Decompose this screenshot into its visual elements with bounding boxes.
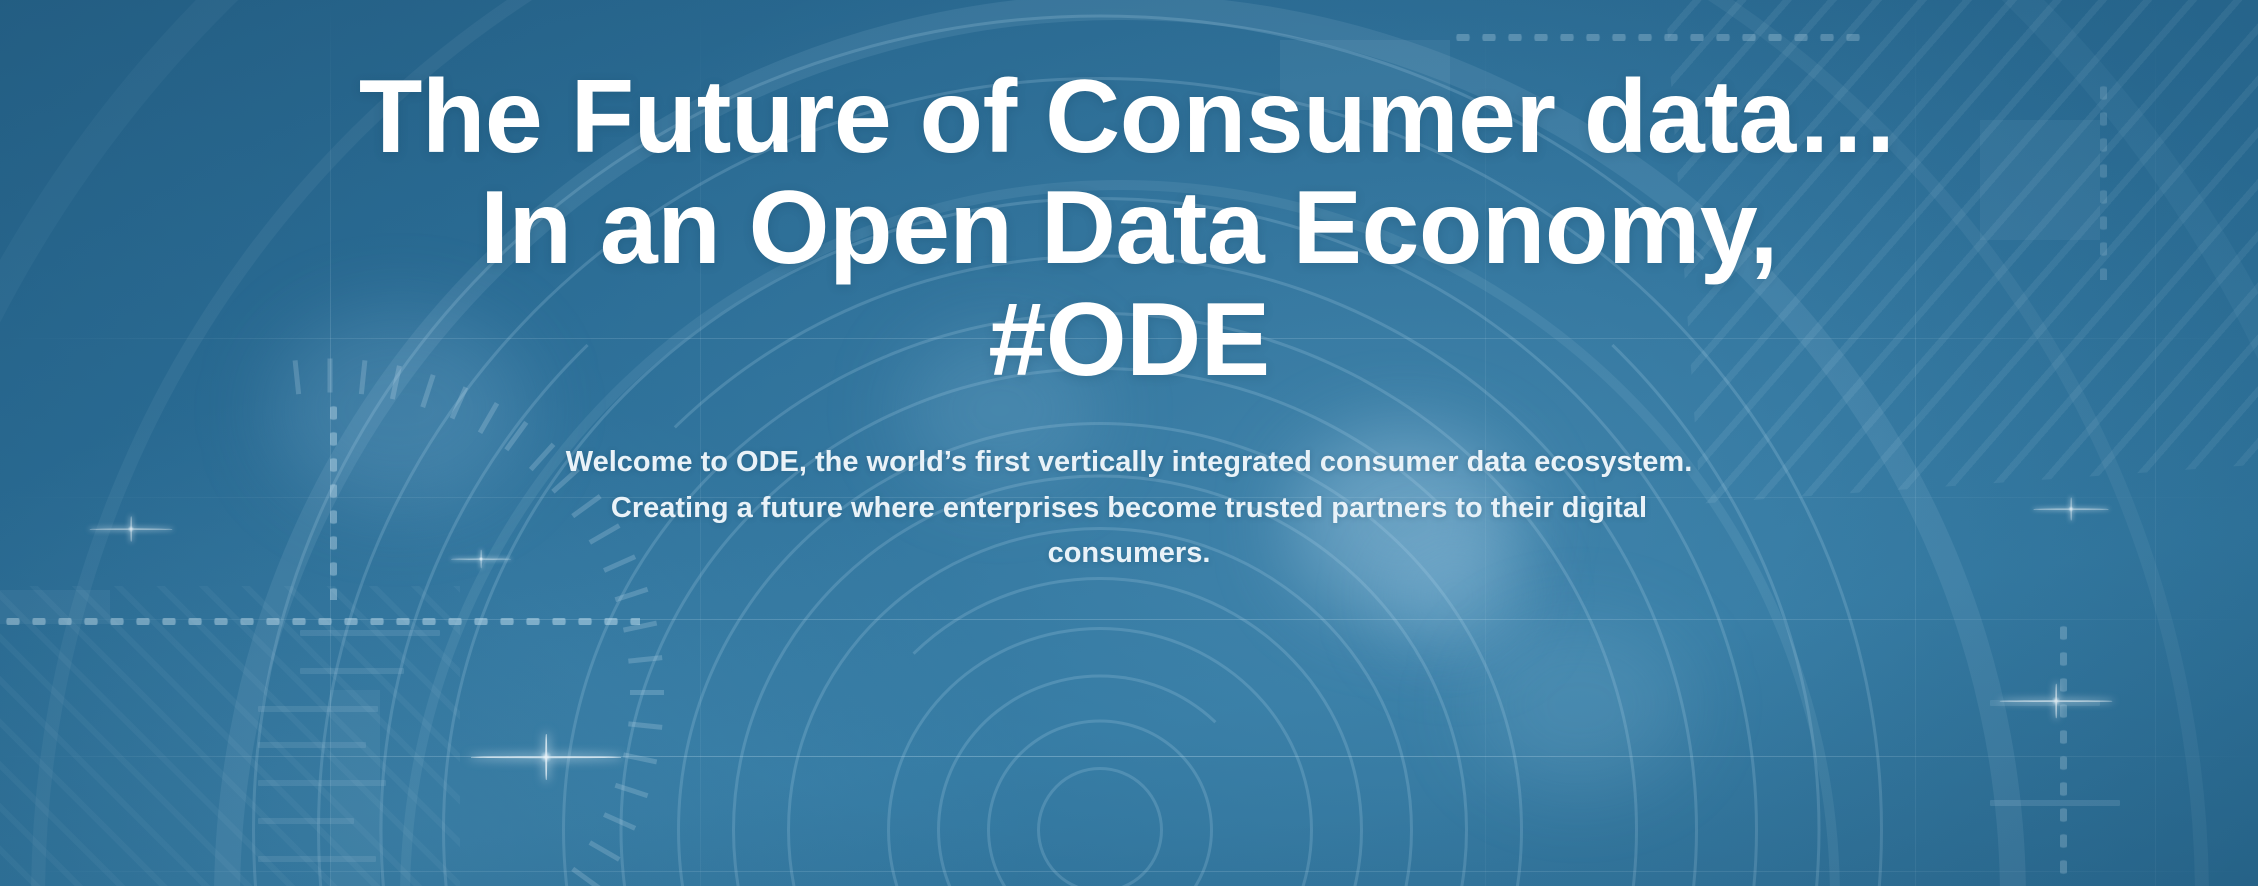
headline-line-1: The Future of Consumer data…: [359, 59, 1899, 175]
hero-banner: The Future of Consumer data… In an Open …: [0, 0, 2258, 886]
hero-content: The Future of Consumer data… In an Open …: [0, 0, 2258, 577]
headline-line-2: In an Open Data Economy,: [480, 170, 1778, 286]
subtitle-line-3: consumers.: [539, 531, 1719, 577]
star-flare-icon: [2055, 700, 2057, 702]
glow-blob-lower-right: [1470, 620, 1690, 790]
page-title: The Future of Consumer data… In an Open …: [59, 0, 2199, 396]
headline-line-3: #ODE: [988, 282, 1269, 398]
star-flare-icon: [545, 756, 547, 758]
hero-subtitle: Welcome to ODE, the world’s first vertic…: [539, 440, 1719, 577]
subtitle-line-2: Creating a future where enterprises beco…: [539, 486, 1719, 532]
subtitle-line-1: Welcome to ODE, the world’s first vertic…: [539, 440, 1719, 486]
